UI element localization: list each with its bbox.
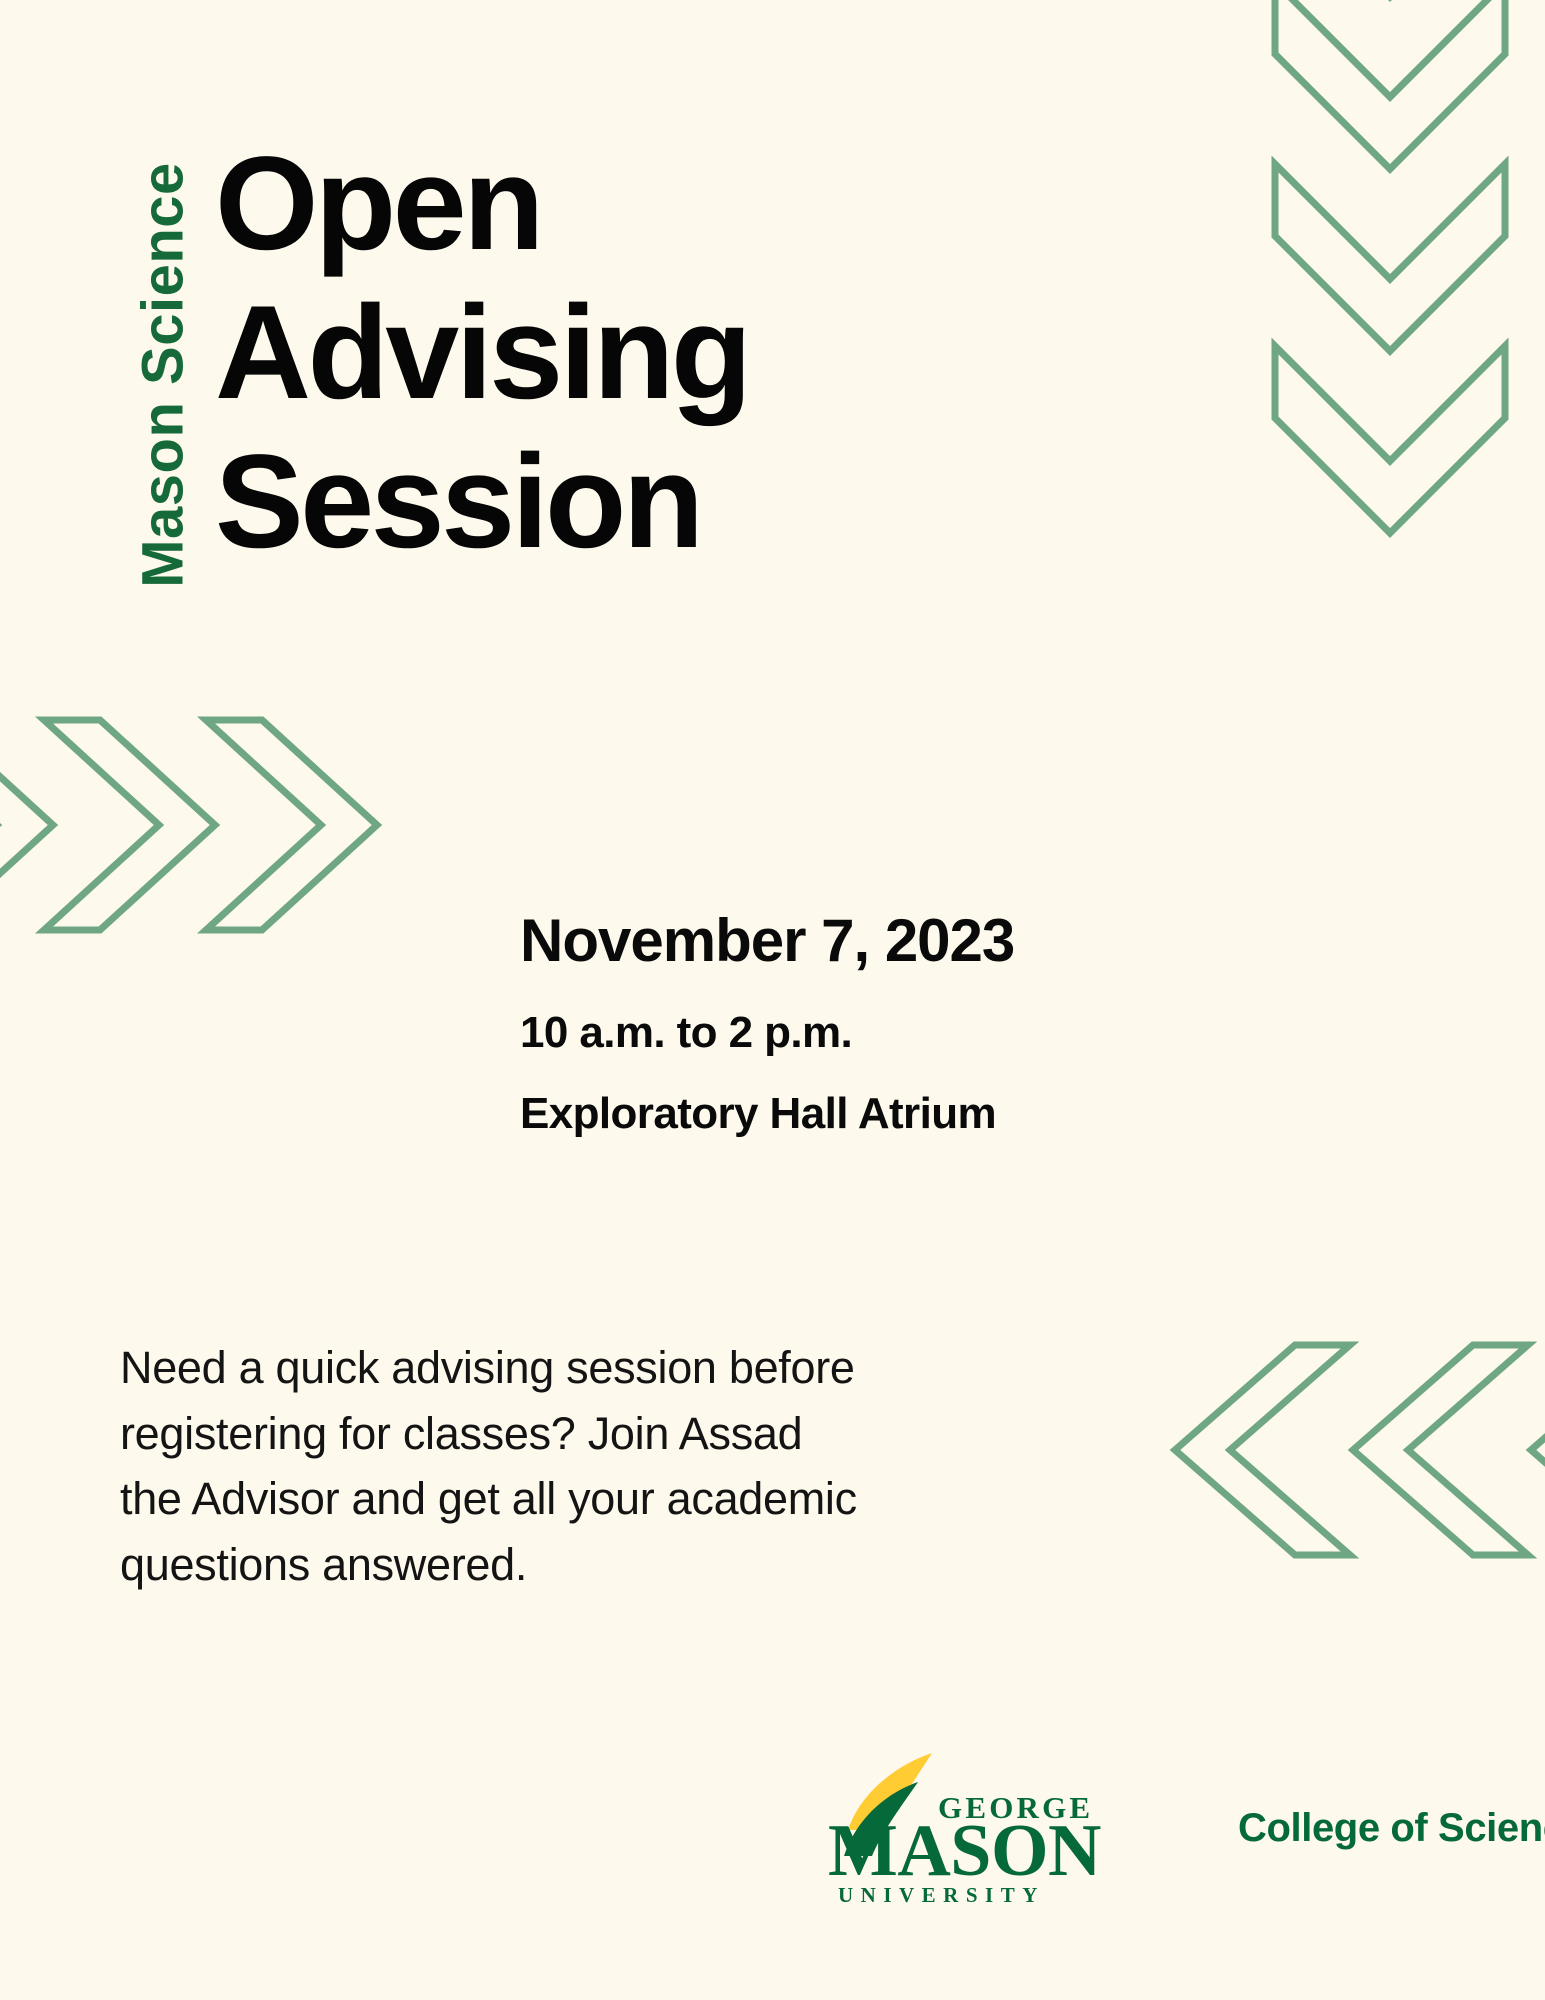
logo-lockup: GEORGE MASON UNIVERSITY College of Scien…: [820, 1730, 1420, 1930]
headline-line-3: Session: [215, 428, 915, 577]
logo-word-mason: MASON: [828, 1810, 1101, 1892]
george-mason-university-logo: GEORGE MASON UNIVERSITY: [820, 1748, 1190, 1913]
eyebrow-vertical-label: Mason Science: [108, 155, 218, 595]
chevron-down-icon: [1275, 0, 1505, 169]
flyer-canvas: Mason Science Open Advising Session Nove…: [0, 0, 1545, 2000]
chevron-down-icon: [1275, 164, 1505, 351]
event-date: November 7, 2023: [520, 905, 1220, 977]
chevron-right-icon: [206, 720, 377, 930]
chevron-down-icon: [1275, 346, 1505, 533]
chevron-left-icon: [1531, 1345, 1545, 1555]
eyebrow-text: Mason Science: [130, 162, 197, 588]
page-title: Open Advising Session: [215, 130, 915, 577]
event-location: Exploratory Hall Atrium: [520, 1086, 1220, 1141]
chevron-left-icon: [1353, 1345, 1528, 1555]
event-description: Need a quick advising session before reg…: [120, 1335, 860, 1598]
college-of-science-label: College of Science: [1238, 1806, 1545, 1851]
chevron-right-icon: [44, 720, 215, 930]
logo-word-university: UNIVERSITY: [838, 1883, 1045, 1907]
decor-chevrons-top-right: [1105, 0, 1545, 630]
chevron-left-icon: [1175, 1345, 1350, 1555]
decor-chevrons-middle-right: [1135, 1290, 1545, 1620]
event-time: 10 a.m. to 2 p.m.: [520, 1005, 1220, 1060]
headline-line-2: Advising: [215, 279, 915, 428]
decor-chevrons-middle-left: [0, 690, 520, 960]
headline-line-1: Open: [215, 130, 915, 279]
chevron-right-icon: [0, 720, 53, 930]
event-details: November 7, 2023 10 a.m. to 2 p.m. Explo…: [520, 905, 1220, 1141]
